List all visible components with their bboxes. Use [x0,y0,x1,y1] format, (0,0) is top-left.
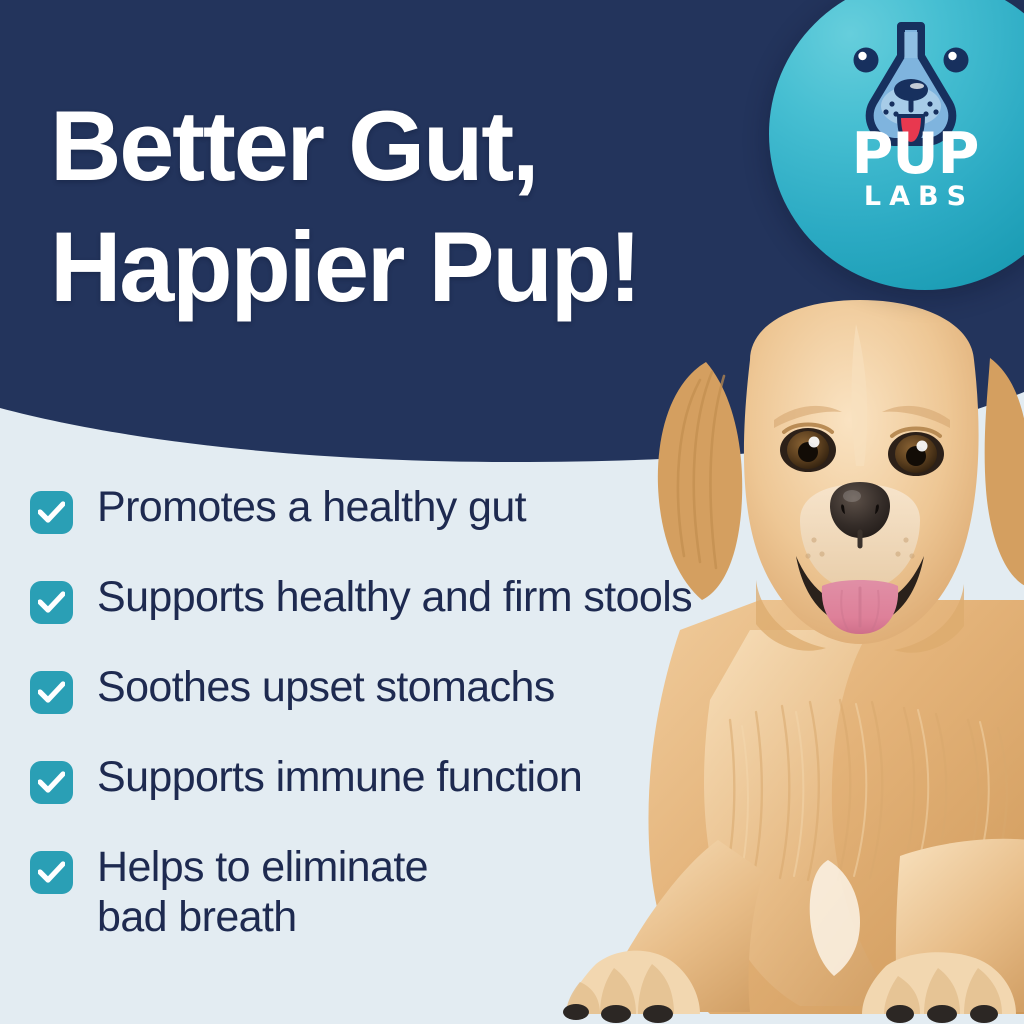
checkmark-icon [30,851,73,894]
benefit-label: Soothes upset stomachs [97,661,555,712]
promo-graphic: Better Gut, Happier Pup! [0,0,1024,1024]
checkmark-icon [30,491,73,534]
brand-logo-content: PUP LABS [769,0,998,290]
page-title: Better Gut, Happier Pup! [50,86,640,328]
headline-line-2: Happier Pup! [50,207,640,328]
benefit-label: Supports healthy and firm stools [97,571,692,622]
benefit-label: Supports immune function [97,751,582,802]
brand-logo-badge[interactable]: PUP LABS [769,0,1024,290]
checkmark-icon [30,761,73,804]
headline-line-1: Better Gut, [50,86,640,207]
checkmark-icon [30,671,73,714]
benefit-item-3: Soothes upset stomachs [30,661,770,751]
benefit-label: Promotes a healthy gut [97,481,526,532]
benefit-label: Helps to eliminate bad breath [97,841,428,943]
brand-subname: LABS [831,183,999,210]
benefit-item-4: Supports immune function [30,751,770,841]
brand-name: PUP [831,130,999,179]
checkmark-icon [30,581,73,624]
benefit-item-5: Helps to eliminate bad breath [30,841,770,961]
benefits-list: Promotes a healthy gut Supports healthy … [30,481,770,961]
benefit-item-2: Supports healthy and firm stools [30,571,770,661]
benefit-item-1: Promotes a healthy gut [30,481,770,571]
